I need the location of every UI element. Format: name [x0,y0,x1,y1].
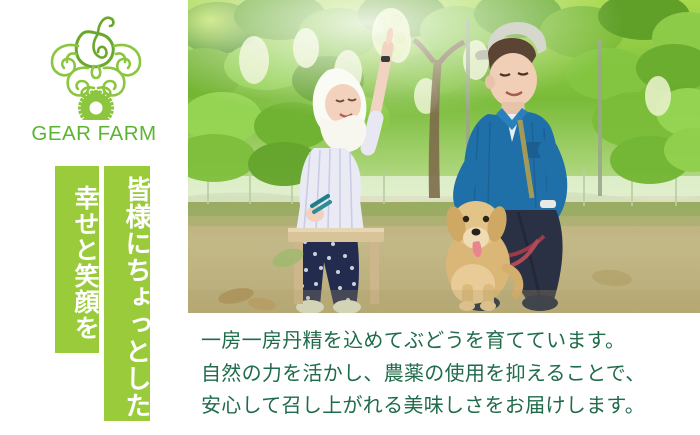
vineyard-couple-with-dog-photo [188,0,700,313]
promo-banner-root: GEAR FARM 幸せと笑顔を 皆様にちょっとした [0,0,700,435]
caption-line-2: 自然の力を活かし、農薬の使用を抑えることで、 [201,357,690,390]
tagline-banner-secondary: 幸せと笑顔を [55,166,99,353]
promo-caption: 一房一房丹精を込めてぶどうを育てています。 自然の力を活かし、農薬の使用を抑える… [188,316,700,435]
tagline-banner-primary: 皆様にちょっとした [104,166,150,421]
brand-column: GEAR FARM 幸せと笑顔を 皆様にちょっとした [0,0,188,435]
brand-wordmark: GEAR FARM [0,122,188,146]
caption-line-1: 一房一房丹精を込めてぶどうを育てています。 [201,324,690,357]
caption-line-3: 安心して召し上がれる美味しさをお届けします。 [201,389,690,422]
grape-vine-gear-logo-icon [36,8,152,120]
